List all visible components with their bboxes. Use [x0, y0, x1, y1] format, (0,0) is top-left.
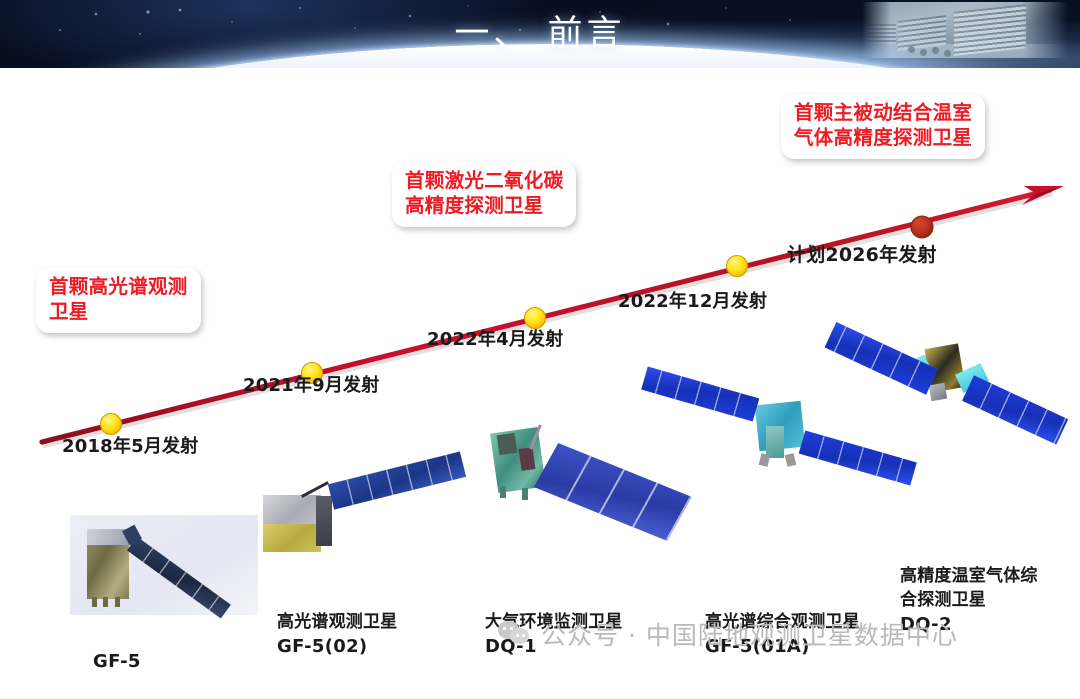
caption-dq2-code: DQ-2	[900, 612, 1038, 638]
gf5-leg	[92, 597, 97, 607]
slide-header-banner: 一、 前言	[0, 0, 1080, 68]
timeline-marker-2026-planned	[911, 216, 933, 238]
date-label-2021: 2021年9月发射	[243, 371, 379, 397]
timeline-marker-2022-12	[727, 256, 748, 277]
callout-first-laser-co2: 首颗激光二氧化碳 高精度探测卫星	[392, 162, 576, 227]
caption-dq1-code: DQ-1	[485, 634, 623, 660]
gf5-leg	[103, 597, 108, 607]
date-label-2022-12: 2022年12月发射	[618, 287, 767, 313]
dq1-instrument	[497, 433, 518, 455]
satellite-image-gf5-02-body-lower	[263, 524, 321, 552]
caption-dq2: 高精度温室气体综 合探测卫星 DQ-2	[900, 540, 1038, 662]
caption-gf5-code: GF-5	[93, 649, 141, 675]
caption-gf5-02-name: 高光谱观测卫星	[277, 612, 397, 632]
gf5-solar-panel	[127, 537, 231, 619]
dq1-aperture	[519, 447, 536, 471]
caption-gf5: GF-5	[93, 625, 141, 699]
satellite-image-gf5-02-body-upper	[263, 495, 321, 527]
caption-gf5-01a: 高光谱综合观测卫星 GF-5(01A)	[705, 586, 860, 684]
gf5-02-side-panel	[316, 496, 332, 546]
date-label-2022-04: 2022年4月发射	[427, 325, 563, 351]
dq1-leg	[500, 486, 506, 498]
caption-gf5-02-code: GF-5(02)	[277, 634, 397, 660]
caption-dq1: 大气环境监测卫星 DQ-1	[485, 586, 623, 684]
dq2-instrument	[929, 383, 948, 402]
gf5-leg	[115, 597, 120, 607]
caption-gf5-01a-code: GF-5(01A)	[705, 634, 860, 660]
callout-first-active-passive-ghg: 首颗主被动结合温室 气体高精度探测卫星	[781, 94, 985, 159]
gf5-01a-instrument	[766, 426, 784, 458]
caption-gf5-01a-name: 高光谱综合观测卫星	[705, 612, 860, 632]
solar-cell-lines	[127, 537, 231, 619]
slide-body: 首颗高光谱观测 卫星 首颗激光二氧化碳 高精度探测卫星 首颗主被动结合温室 气体…	[0, 68, 1080, 608]
dq1-leg	[522, 488, 528, 500]
date-label-2018: 2018年5月发射	[62, 432, 198, 458]
caption-gf5-02: 高光谱观测卫星 GF-5(02)	[277, 586, 397, 684]
callout-first-hyperspectral: 首颗高光谱观测 卫星	[36, 268, 201, 333]
date-label-2026: 计划2026年发射	[787, 240, 937, 267]
caption-dq1-name: 大气环境监测卫星	[485, 612, 623, 632]
satellite-image-gf5	[70, 515, 258, 615]
page-title: 一、 前言	[0, 5, 1080, 56]
caption-dq2-name: 高精度温室气体综 合探测卫星	[900, 566, 1038, 610]
